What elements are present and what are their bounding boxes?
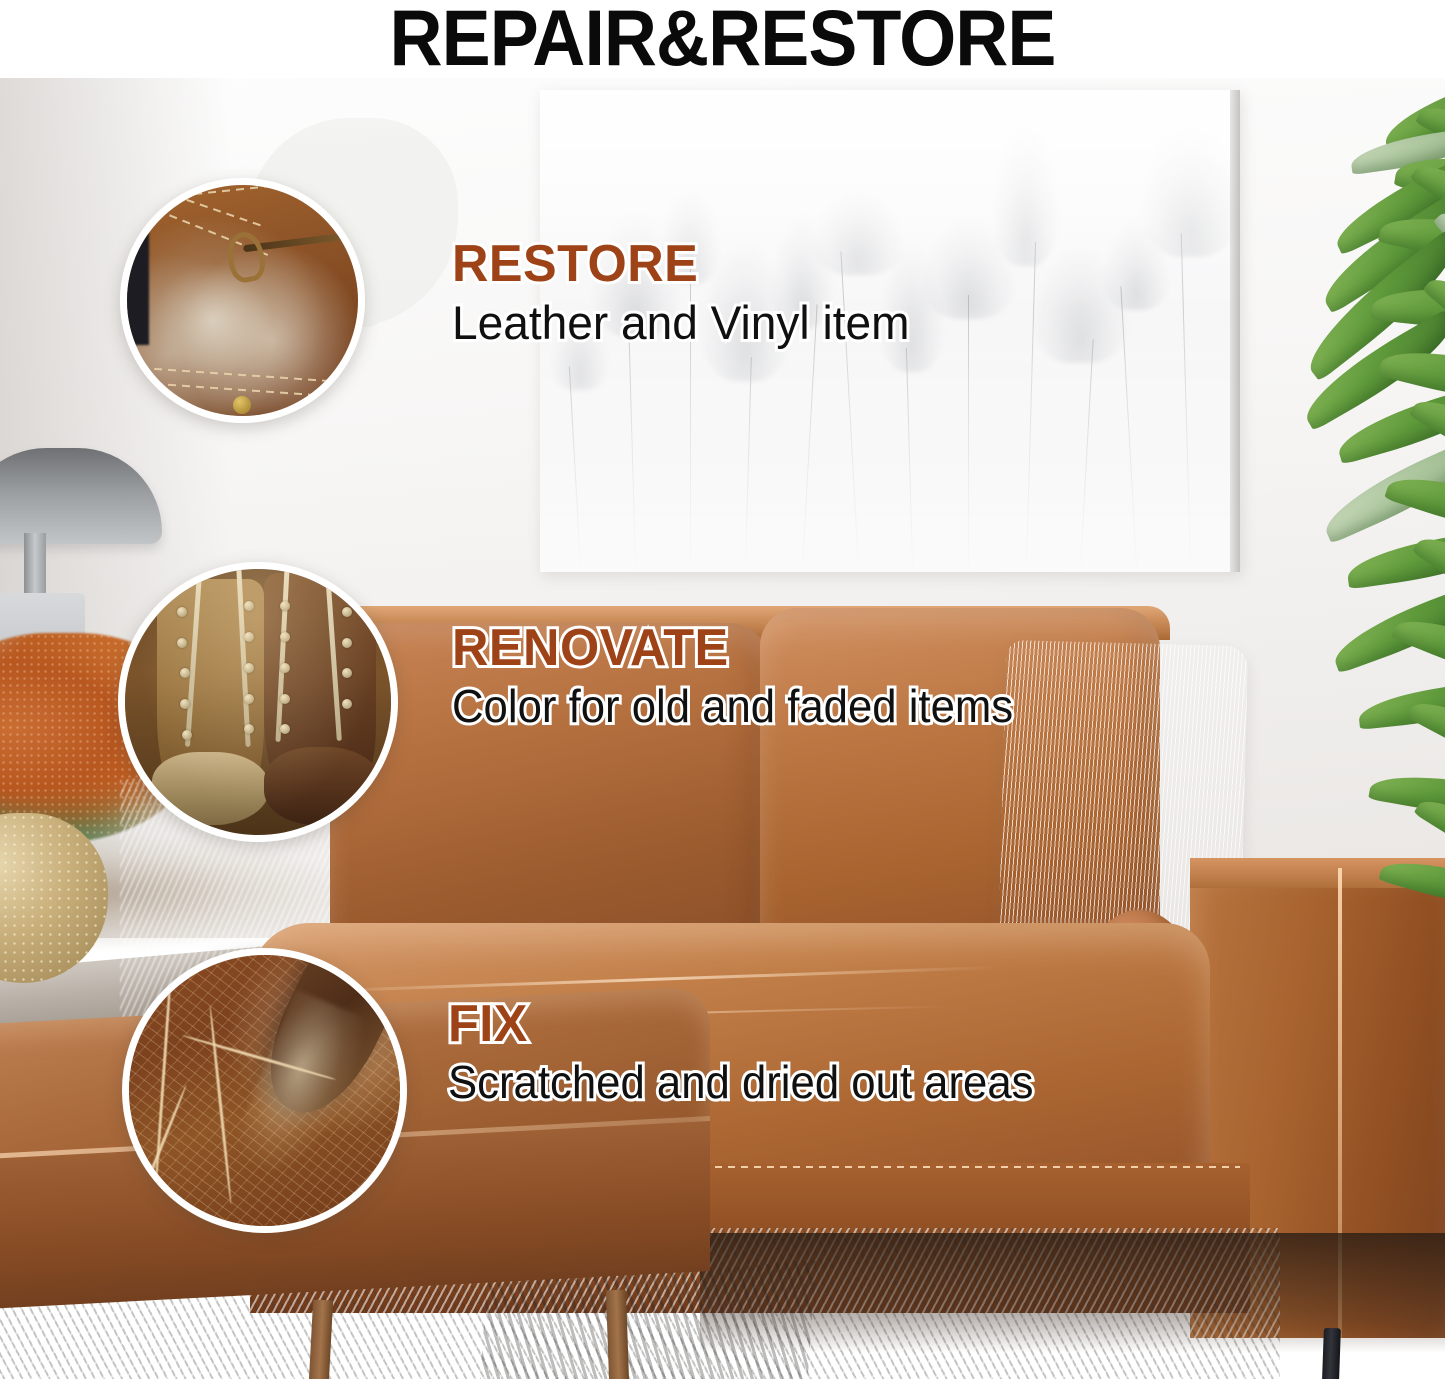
thumbnail-restore xyxy=(120,178,365,423)
moldy-leather-bag-photo xyxy=(120,178,365,423)
plant-leaf xyxy=(1378,849,1445,918)
worn-leather-boots-photo xyxy=(118,562,398,842)
scratched-leather-photo xyxy=(122,948,407,1233)
feature-headline-renovate: RENOVATE xyxy=(452,622,1025,675)
page-title: REPAIR&RESTORE xyxy=(51,0,1395,84)
feature-block-fix: FIX Scratched and dried out areas xyxy=(448,998,1064,1109)
feature-headline-fix: FIX xyxy=(448,998,1046,1051)
feature-subline-renovate: Color for old and faded items xyxy=(452,681,1013,733)
feature-subline-restore: Leather and Vinyl item xyxy=(452,297,909,350)
sofa-metal-leg xyxy=(1320,1328,1341,1379)
feature-subline-fix: Scratched and dried out areas xyxy=(448,1057,1033,1109)
feature-block-renovate: RENOVATE Color for old and faded items xyxy=(452,622,1043,733)
product-feature-banner: REPAIR&RESTORE RESTORE Leather and Vinyl… xyxy=(0,0,1445,1379)
feature-block-restore: RESTORE Leather and Vinyl item xyxy=(452,238,919,350)
green-houseplant xyxy=(1230,88,1445,948)
thumbnail-renovate xyxy=(118,562,398,842)
feature-headline-restore: RESTORE xyxy=(452,238,905,291)
thumbnail-fix xyxy=(122,948,407,1233)
